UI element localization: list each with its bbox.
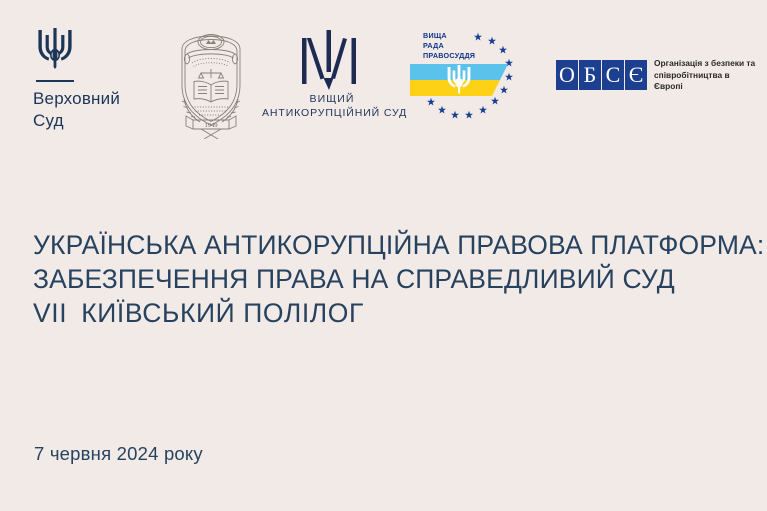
title-event-name: КИЇВСЬКИЙ ПОЛІЛОГ <box>81 298 364 328</box>
osce-letter-3: Є <box>625 60 647 90</box>
supreme-court-label-line2: Суд <box>33 110 153 132</box>
osce-tagline: Організація з безпеки та співробітництва… <box>654 58 756 93</box>
logo-osce: О Б С Є Організація з безпеки та співроб… <box>556 58 756 93</box>
osce-letter-0: О <box>556 60 578 90</box>
logo-high-anti-corruption-court: ВИЩИЙ АНТИКОРУПЦІЙНИЙ СУД <box>262 28 402 119</box>
hcj-label-line3: ПРАВОСУДДЯ <box>423 51 475 61</box>
institute-seal-icon: 1949 <box>168 27 254 139</box>
hacc-label-line1: ВИЩИЙ <box>262 93 402 105</box>
title-event-number: VII <box>33 298 67 328</box>
logo-institute-of-state-and-law: 1949 <box>168 27 254 139</box>
osce-letter-boxes: О Б С Є <box>556 60 647 90</box>
hcj-label: ВИЩА РАДА ПРАВОСУДДЯ <box>423 31 475 62</box>
institute-seal-year: 1949 <box>205 122 218 129</box>
logo-supreme-court: Верховний Суд <box>33 26 153 132</box>
hacc-trident-mark-icon <box>262 28 402 90</box>
hcj-label-line2: РАДА <box>423 41 475 51</box>
supreme-court-label-line1: Верховний <box>33 88 153 110</box>
presentation-slide: Верховний Суд <box>0 0 767 511</box>
page-title: УКРАЇНСЬКА АНТИКОРУПЦІЙНА ПРАВОВА ПЛАТФО… <box>33 228 733 330</box>
event-date: 7 червня 2024 року <box>34 443 203 465</box>
osce-tagline-line1: Організація з безпеки та <box>654 58 756 70</box>
title-line-2: ЗАБЕЗПЕЧЕННЯ ПРАВА НА СПРАВЕДЛИВИЙ СУД <box>33 262 733 296</box>
logo-bar: Верховний Суд <box>0 0 767 165</box>
osce-tagline-line2: співробітництва в Європі <box>654 70 756 93</box>
title-line-3: VIIКИЇВСЬКИЙ ПОЛІЛОГ <box>33 296 733 330</box>
divider-rule <box>36 80 74 82</box>
logo-high-council-of-justice: ВИЩА РАДА ПРАВОСУДДЯ <box>404 26 532 138</box>
ukrainian-trident-icon <box>35 26 75 70</box>
osce-letter-1: Б <box>579 60 601 90</box>
hacc-label-line2: АНТИКОРУПЦІЙНИЙ СУД <box>262 107 402 119</box>
hcj-label-line1: ВИЩА <box>423 31 475 41</box>
title-line-1: УКРАЇНСЬКА АНТИКОРУПЦІЙНА ПРАВОВА ПЛАТФО… <box>33 228 733 262</box>
osce-letter-2: С <box>602 60 624 90</box>
